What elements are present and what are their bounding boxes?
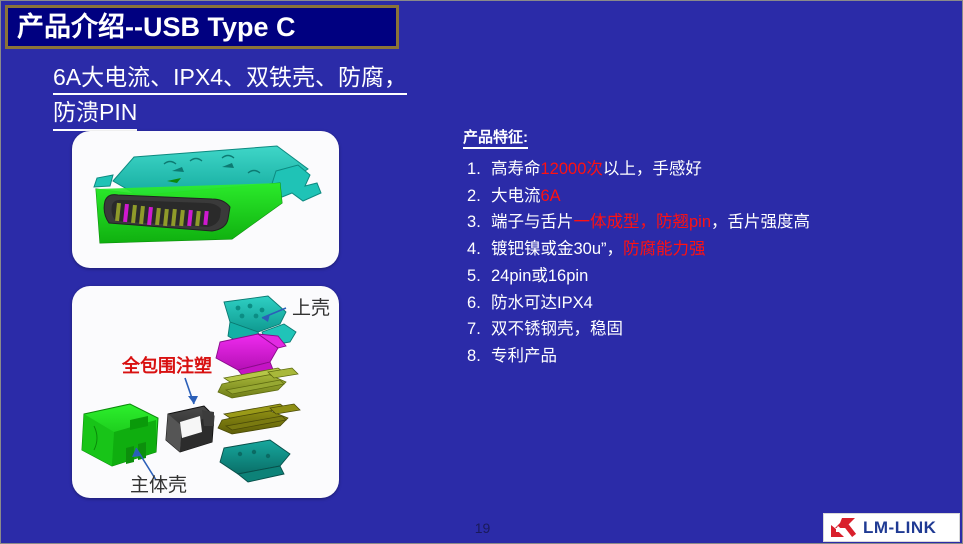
label-main-shell: 主体壳 (130, 474, 187, 496)
product-image-card-top (72, 131, 339, 268)
features-heading: 产品特征: (463, 129, 528, 149)
lm-link-logo-icon (828, 516, 858, 540)
feature-1-part-1: 高寿命 (491, 160, 541, 178)
features-section: 产品特征: 高寿命12000次以上，手感好大电流6A端子与舌片一体成型，防翘pi… (463, 129, 933, 370)
feature-item-1: 高寿命12000次以上，手感好 (463, 156, 933, 183)
label-overmold: 全包围注塑 (121, 355, 212, 377)
features-list: 高寿命12000次以上，手感好大电流6A端子与舌片一体成型，防翘pin，舌片强度… (463, 156, 933, 370)
feature-7-part-1: 双不锈钢壳，稳固 (491, 320, 623, 338)
feature-item-3: 端子与舌片一体成型，防翘pin，舌片强度高 (463, 209, 933, 236)
feature-3-part-2: 一体成型，防翘pin (574, 213, 712, 231)
slide-number: 19 (1, 520, 963, 536)
slide-canvas: 产品介绍--USB Type C 6A大电流、IPX4、双铁壳、防腐， 防溃PI… (0, 0, 963, 544)
feature-2-part-2: 6A (541, 187, 561, 205)
feature-6-part-1: 防水可达IPX4 (491, 294, 593, 312)
feature-item-6: 防水可达IPX4 (463, 290, 933, 317)
feature-item-2: 大电流6A (463, 183, 933, 210)
feature-3-part-1: 端子与舌片 (491, 213, 574, 231)
exploded-view-diagram: 上壳 全包围注塑 主体壳 (72, 286, 339, 498)
slide-title-box: 产品介绍--USB Type C (5, 5, 399, 49)
feature-item-4: 镀钯镍或金30u”，防腐能力强 (463, 236, 933, 263)
label-upper-shell: 上壳 (292, 297, 330, 319)
feature-item-7: 双不锈钢壳，稳固 (463, 316, 933, 343)
company-logo: LM-LINK (823, 513, 960, 542)
feature-4-part-2: 防腐能力强 (623, 240, 706, 258)
feature-1-part-3: 以上，手感好 (603, 160, 702, 178)
feature-2-part-1: 大电流 (491, 187, 541, 205)
slide-subtitle: 6A大电流、IPX4、双铁壳、防腐， 防溃PIN (53, 62, 483, 131)
product-image-card-bottom: 上壳 全包围注塑 主体壳 (72, 286, 339, 498)
feature-item-5: 24pin或16pin (463, 263, 933, 290)
subtitle-line-1: 6A大电流、IPX4、双铁壳、防腐， (53, 62, 407, 95)
logo-text: LM-LINK (863, 518, 936, 538)
feature-8-part-1: 专利产品 (491, 347, 557, 365)
page-title: 产品介绍--USB Type C (17, 14, 296, 41)
feature-4-part-1: 镀钯镍或金30u”， (491, 240, 623, 258)
feature-1-part-2: 12000次 (541, 160, 603, 178)
subtitle-line-2: 防溃PIN (53, 97, 137, 130)
feature-5-part-1: 24pin或16pin (491, 267, 588, 285)
feature-item-8: 专利产品 (463, 343, 933, 370)
usb-type-c-connector-render (72, 131, 339, 268)
feature-3-part-3: ，舌片强度高 (711, 213, 810, 231)
